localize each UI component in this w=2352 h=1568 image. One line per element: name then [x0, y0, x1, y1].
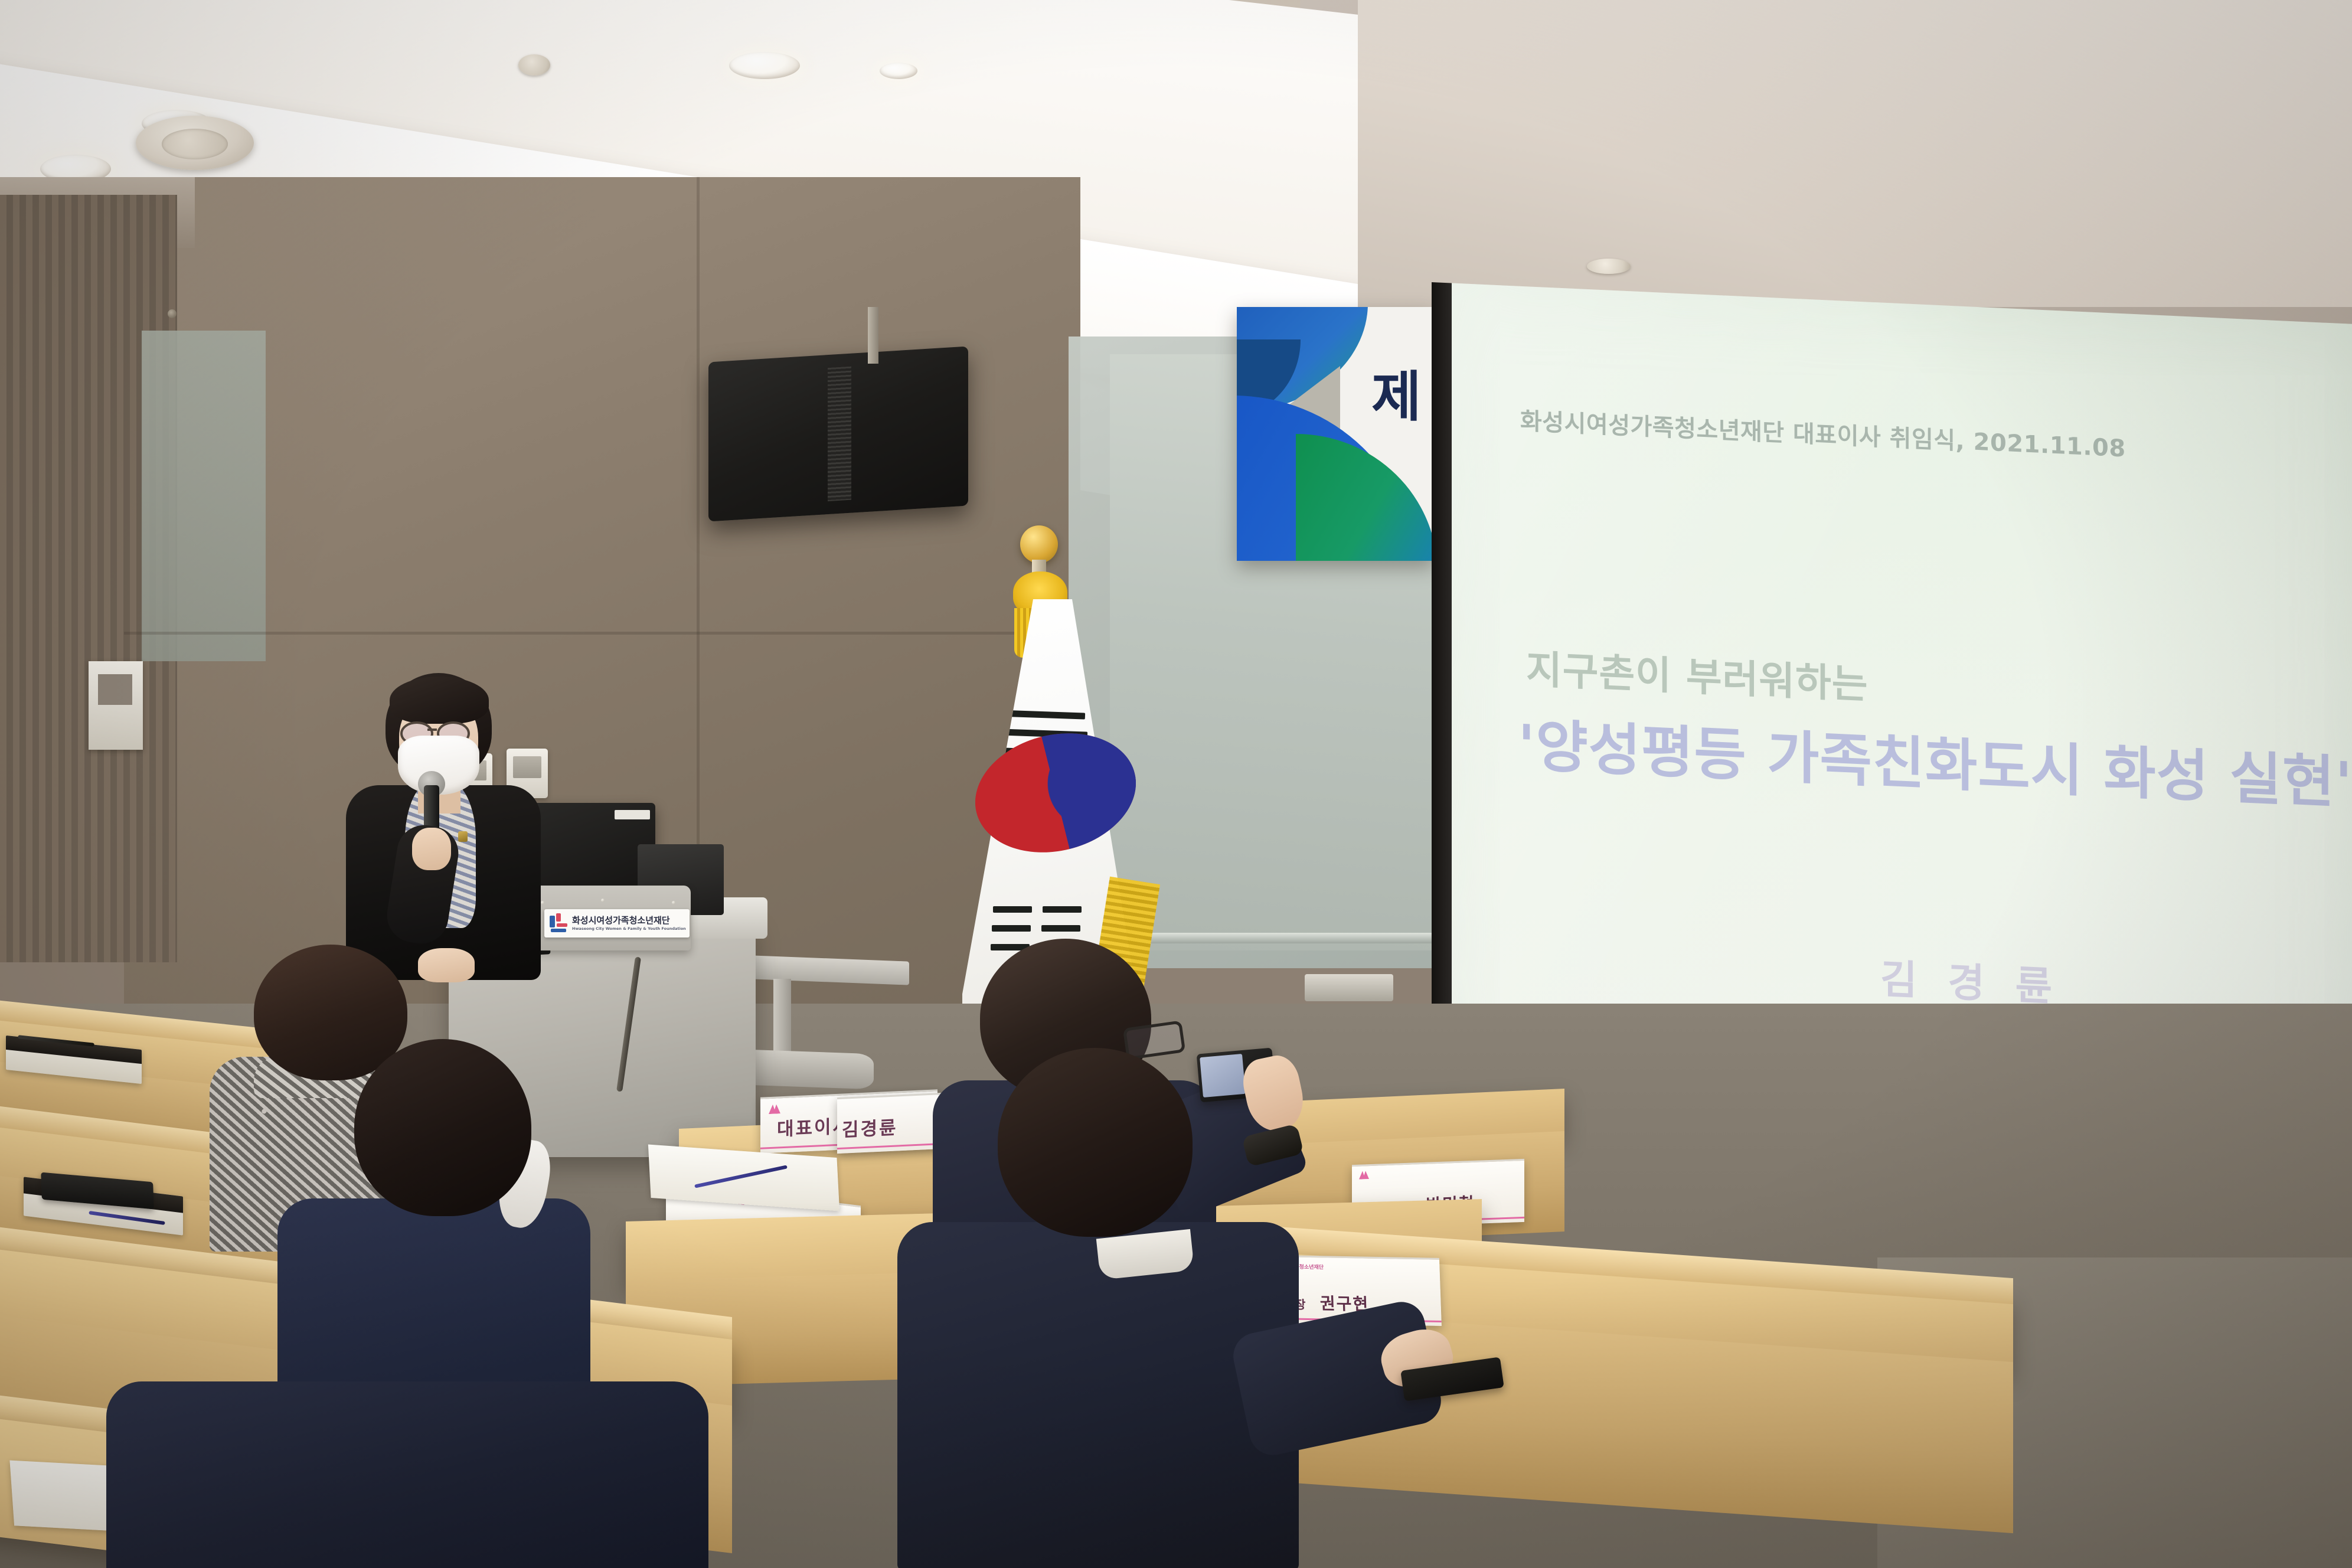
ceiling-speaker-grille	[136, 116, 254, 170]
foundation-logo-icon	[1359, 1171, 1369, 1180]
presenter-hand	[412, 828, 451, 870]
ceiling-downlight	[880, 63, 917, 79]
sprinkler-head	[518, 54, 550, 76]
podium-sign-korean: 화성시여성가족청소년재단	[572, 916, 686, 925]
wall-banner: 제	[1237, 307, 1435, 561]
glass-partition-rail	[1122, 933, 1452, 943]
banner-text: 제	[1371, 353, 1420, 432]
banner-bolt	[168, 309, 177, 318]
presenter-lapel-pin	[458, 831, 468, 842]
presenter-resting-hand	[418, 948, 475, 982]
nameplate-ceo-name: 김경륜	[837, 1093, 943, 1154]
foundation-logo-icon	[769, 1104, 780, 1114]
wall-mounted-speaker	[708, 347, 968, 522]
sprinkler-head	[1587, 259, 1631, 274]
ceiling-right-section	[1358, 0, 2352, 307]
audience-masked-head	[354, 1039, 531, 1216]
podium-sign-english: Hwaseong City Women & Family & Youth Fou…	[572, 927, 686, 931]
wall-green-panel	[142, 331, 266, 661]
wall-seam	[124, 632, 1080, 635]
presenter-glasses-bridge	[427, 729, 437, 731]
slide-speaker-name: 김 경 륜	[1880, 946, 2060, 1013]
wall-notice-frame	[89, 661, 143, 750]
conference-hall-photo: 제 화성시여성가족청소년재단 대표이사 취임식, 2021.11.08 지구촌이…	[0, 0, 2352, 1568]
presenter	[335, 673, 571, 980]
audience-bottom-torso	[106, 1381, 708, 1568]
nameplate-name: 김경륜	[842, 1112, 898, 1141]
presenter-hair-front	[390, 677, 489, 724]
wall-equipment-box	[1305, 974, 1393, 1001]
ceiling-downlight	[729, 52, 800, 79]
audience-foreground-torso	[897, 1222, 1299, 1568]
audience-foreground-head	[998, 1048, 1193, 1237]
monitor-label-sticker	[615, 810, 650, 819]
banner-shape-green	[1296, 434, 1435, 561]
speaker-mount-bracket	[868, 307, 878, 364]
flagpole-finial	[1020, 525, 1058, 563]
projection-screen-left-border	[1432, 282, 1452, 1122]
